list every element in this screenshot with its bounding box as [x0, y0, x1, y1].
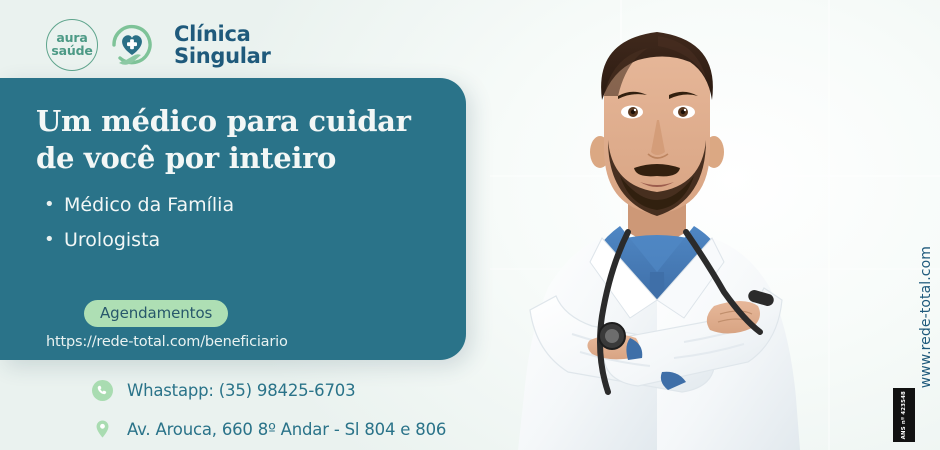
heart-with-cross-in-hand-icon	[106, 19, 158, 71]
contact-block: Whastapp: (35) 98425-6703 Av. Arouca, 66…	[92, 374, 446, 445]
doctor-photo	[452, 0, 922, 450]
clinic-name: Clínica Singular	[174, 23, 271, 67]
aura-logo-line2: saúde	[51, 45, 92, 58]
brand-logo-bar: aura saúde Clínica Singular	[46, 16, 271, 74]
headline-line2: de você por inteiro	[36, 140, 436, 177]
address-contact-row[interactable]: Av. Arouca, 660 8º Andar - Sl 804 e 806	[92, 413, 446, 445]
page-title: Um médico para cuidar de você por inteir…	[36, 103, 436, 177]
clinic-name-line1: Clínica	[174, 22, 250, 46]
list-item: Urologista	[42, 223, 234, 258]
clinic-name-line2: Singular	[174, 45, 271, 67]
ans-registration-text: ANS nº 423548	[901, 391, 907, 439]
beneficiary-site-link[interactable]: https://rede-total.com/beneficiario	[46, 334, 288, 350]
whatsapp-phone-icon	[92, 380, 113, 401]
whatsapp-contact-row[interactable]: Whastapp: (35) 98425-6703	[92, 374, 446, 406]
specialty-list: Médico da Família Urologista	[42, 188, 234, 258]
list-item: Médico da Família	[42, 188, 234, 223]
promotional-banner: aura saúde Clínica Singular Um médico pa…	[0, 0, 940, 450]
address-text: Av. Arouca, 660 8º Andar - Sl 804 e 806	[127, 420, 446, 439]
vertical-website-url[interactable]: www.rede-total.com	[918, 246, 934, 388]
aura-saude-circle-logo: aura saúde	[46, 19, 98, 71]
appointments-button[interactable]: Agendamentos	[84, 300, 228, 327]
offer-panel: Um médico para cuidar de você por inteir…	[0, 78, 466, 360]
ans-registration-badge: ANS nº 423548	[893, 388, 915, 442]
headline-line1: Um médico para cuidar	[36, 104, 411, 138]
location-pin-icon	[92, 416, 113, 442]
whatsapp-text: Whastapp: (35) 98425-6703	[127, 381, 355, 400]
